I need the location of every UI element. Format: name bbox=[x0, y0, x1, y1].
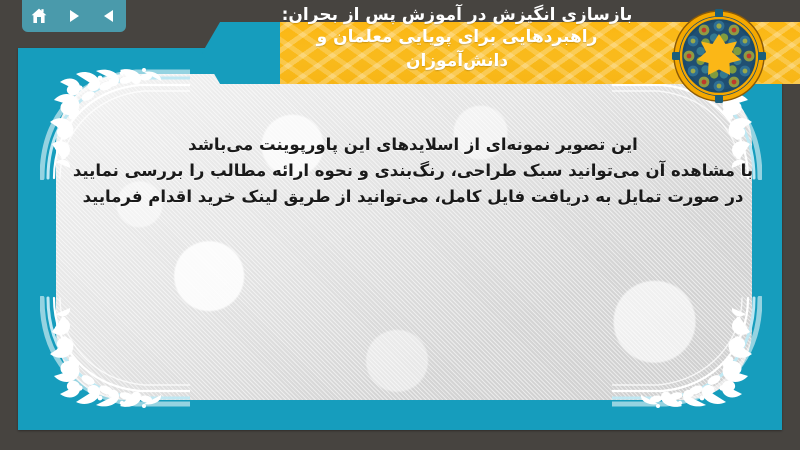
next-slide-button[interactable] bbox=[61, 3, 87, 29]
presentation-slide: این تصویر نمونه‌ای از اسلایدهای این پاور… bbox=[0, 0, 800, 450]
persian-mandala-medallion-icon bbox=[671, 8, 767, 104]
slide-title: بازسازی انگیزش در آموزش پس از بحران: راه… bbox=[242, 4, 672, 72]
title-banner: بازسازی انگیزش در آموزش پس از بحران: راه… bbox=[202, 0, 800, 90]
title-line-1: بازسازی انگیزش در آموزش پس از بحران: bbox=[242, 4, 672, 26]
body-line-3: در صورت تمایل به دریافت فایل کامل، می‌تو… bbox=[70, 184, 756, 210]
home-button[interactable] bbox=[26, 3, 52, 29]
content-plate bbox=[56, 74, 752, 400]
body-line-2: با مشاهده آن می‌توانید سبک طراحی، رنگ‌بن… bbox=[70, 158, 756, 184]
decorative-frame bbox=[18, 48, 782, 430]
slide-body-text: این تصویر نمونه‌ای از اسلایدهای این پاور… bbox=[70, 132, 756, 210]
title-line-2: راهبردهایی برای پویایی معلمان و bbox=[242, 26, 672, 48]
slide-navigation-bar[interactable] bbox=[22, 0, 126, 32]
previous-slide-button[interactable] bbox=[96, 3, 122, 29]
body-line-1: این تصویر نمونه‌ای از اسلایدهای این پاور… bbox=[70, 132, 756, 158]
title-line-3: دانش‌آموزان bbox=[242, 50, 672, 72]
